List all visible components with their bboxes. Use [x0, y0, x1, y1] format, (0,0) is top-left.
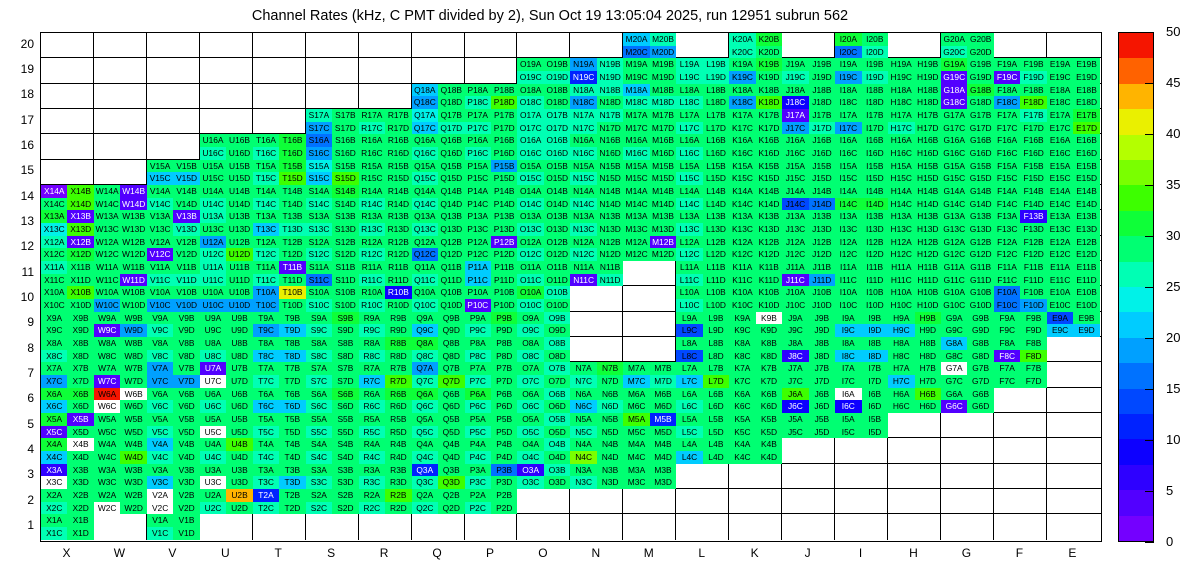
- channel-Q17C[interactable]: Q17C: [412, 122, 438, 135]
- channel-V10D[interactable]: V10D: [173, 299, 199, 312]
- heatmap-cell-W8[interactable]: W8AW8BW8CW8D: [94, 337, 147, 362]
- channel-X13A[interactable]: X13A: [41, 210, 67, 223]
- heatmap-cell-T20[interactable]: [253, 33, 306, 58]
- channel-G14A[interactable]: G14A: [941, 185, 967, 198]
- channel-X3A[interactable]: X3A: [41, 464, 67, 477]
- channel-W10B[interactable]: W10B: [120, 286, 146, 299]
- channel-J19B[interactable]: J19B: [809, 58, 835, 71]
- channel-P17B[interactable]: P17B: [491, 109, 517, 122]
- channel-J17C[interactable]: J17C: [782, 122, 808, 135]
- channel-U4A[interactable]: U4A: [200, 438, 226, 451]
- channel-O5D[interactable]: O5D: [544, 426, 570, 439]
- channel-P3C[interactable]: P3C: [465, 476, 491, 489]
- heatmap-cell-W15[interactable]: [94, 160, 147, 185]
- heatmap-cell-W9[interactable]: W9AW9BW9CW9D: [94, 312, 147, 337]
- heatmap-cell-M6[interactable]: M6AM6BM6CM6D: [623, 388, 676, 413]
- channel-Q18B[interactable]: Q18B: [438, 84, 464, 97]
- channel-G10B[interactable]: G10B: [967, 286, 993, 299]
- channel-F16D[interactable]: F16D: [1020, 147, 1046, 160]
- channel-J18C[interactable]: J18C: [782, 96, 808, 109]
- heatmap-cell-R15[interactable]: R15AR15BR15CR15D: [359, 160, 412, 185]
- heatmap-cell-O1[interactable]: [517, 514, 570, 539]
- heatmap-cell-G2[interactable]: [941, 489, 994, 514]
- channel-G12C[interactable]: G12C: [941, 248, 967, 261]
- channel-I9A[interactable]: I9A: [835, 312, 861, 325]
- channel-R5B[interactable]: R5B: [385, 413, 411, 426]
- channel-O19B[interactable]: O19B: [544, 58, 570, 71]
- channel-H12C[interactable]: H12C: [888, 248, 914, 261]
- channel-V14B[interactable]: V14B: [173, 185, 199, 198]
- channel-I14B[interactable]: I14B: [862, 185, 888, 198]
- channel-I14A[interactable]: I14A: [835, 185, 861, 198]
- channel-F7B[interactable]: F7B: [1020, 362, 1046, 375]
- channel-R15D[interactable]: R15D: [385, 172, 411, 185]
- channel-N11A[interactable]: N11A: [570, 261, 596, 274]
- heatmap-cell-E1[interactable]: [1047, 514, 1100, 539]
- channel-O10B[interactable]: O10B: [544, 286, 570, 299]
- channel-U15C[interactable]: U15C: [200, 172, 226, 185]
- channel-K8D[interactable]: K8D: [756, 350, 782, 363]
- channel-O16D[interactable]: O16D: [544, 147, 570, 160]
- heatmap-cell-T3[interactable]: T3AT3BT3CT3D: [253, 464, 306, 489]
- heatmap-cell-E13[interactable]: E13AE13BE13CE13D: [1047, 210, 1100, 235]
- channel-X2C[interactable]: X2C: [41, 502, 67, 515]
- channel-X5D[interactable]: X5D: [67, 426, 93, 439]
- channel-S9D[interactable]: S9D: [332, 324, 358, 337]
- channel-R5A[interactable]: R5A: [359, 413, 385, 426]
- heatmap-cell-N14[interactable]: N14AN14BN14CN14D: [570, 185, 623, 210]
- heatmap-cell-R16[interactable]: R16AR16BR16CR16D: [359, 134, 412, 159]
- channel-P3B[interactable]: P3B: [491, 464, 517, 477]
- channel-K5C[interactable]: K5C: [729, 426, 755, 439]
- channel-N19B[interactable]: N19B: [597, 58, 623, 71]
- heatmap-cell-K10[interactable]: K10AK10BK10CK10D: [729, 286, 782, 311]
- channel-Q14D[interactable]: Q14D: [438, 198, 464, 211]
- channel-J9C[interactable]: J9C: [782, 324, 808, 337]
- heatmap-cell-L19[interactable]: L19AL19BL19CL19D: [676, 58, 729, 83]
- channel-T10C[interactable]: T10C: [253, 299, 279, 312]
- channel-H17C[interactable]: H17C: [888, 122, 914, 135]
- channel-F10C[interactable]: F10C: [994, 299, 1020, 312]
- channel-H19D[interactable]: H19D: [915, 71, 941, 84]
- channel-X4A[interactable]: X4A: [41, 438, 67, 451]
- channel-Q2D[interactable]: Q2D: [438, 502, 464, 515]
- channel-Q8A[interactable]: Q8A: [412, 337, 438, 350]
- heatmap-cell-G4[interactable]: [941, 438, 994, 463]
- channel-T5C[interactable]: T5C: [253, 426, 279, 439]
- heatmap-cell-Q13[interactable]: Q13AQ13BQ13CQ13D: [412, 210, 465, 235]
- channel-L5C[interactable]: L5C: [676, 426, 702, 439]
- heatmap-cell-V13[interactable]: V13AV13BV13CV13D: [147, 210, 200, 235]
- channel-V8B[interactable]: V8B: [173, 337, 199, 350]
- channel-F12D[interactable]: F12D: [1020, 248, 1046, 261]
- heatmap-cell-V4[interactable]: V4AV4BV4CV4D: [147, 438, 200, 463]
- channel-T16D[interactable]: T16D: [279, 147, 305, 160]
- channel-U15A[interactable]: U15A: [200, 160, 226, 173]
- channel-E14D[interactable]: E14D: [1073, 198, 1099, 211]
- channel-I11B[interactable]: I11B: [862, 261, 888, 274]
- channel-Q8D[interactable]: Q8D: [438, 350, 464, 363]
- channel-U16C[interactable]: U16C: [200, 147, 226, 160]
- channel-N14B[interactable]: N14B: [597, 185, 623, 198]
- channel-P3D[interactable]: P3D: [491, 476, 517, 489]
- channel-Q16D[interactable]: Q16D: [438, 147, 464, 160]
- channel-X14A[interactable]: X14A: [41, 185, 67, 198]
- channel-X9D[interactable]: X9D: [67, 324, 93, 337]
- heatmap-cell-I4[interactable]: [835, 438, 888, 463]
- channel-H15A[interactable]: H15A: [888, 160, 914, 173]
- channel-V3A[interactable]: V3A: [147, 464, 173, 477]
- channel-L5D[interactable]: L5D: [703, 426, 729, 439]
- channel-L18D[interactable]: L18D: [703, 96, 729, 109]
- channel-X12B[interactable]: X12B: [67, 236, 93, 249]
- heatmap-cell-S11[interactable]: S11AS11BS11CS11D: [306, 261, 359, 286]
- heatmap-cell-S14[interactable]: S14AS14BS14CS14D: [306, 185, 359, 210]
- channel-K18A[interactable]: K18A: [729, 84, 755, 97]
- channel-U12C[interactable]: U12C: [200, 248, 226, 261]
- channel-M4B[interactable]: M4B: [650, 438, 676, 451]
- heatmap-cell-L5[interactable]: L5AL5BL5CL5D: [676, 413, 729, 438]
- channel-H16A[interactable]: H16A: [888, 134, 914, 147]
- channel-L14D[interactable]: L14D: [703, 198, 729, 211]
- channel-N16C[interactable]: N16C: [570, 147, 596, 160]
- channel-K16C[interactable]: K16C: [729, 147, 755, 160]
- channel-K19C[interactable]: K19C: [729, 71, 755, 84]
- channel-J8B[interactable]: J8B: [809, 337, 835, 350]
- channel-N7B[interactable]: N7B: [597, 362, 623, 375]
- channel-L16D[interactable]: L16D: [703, 147, 729, 160]
- heatmap-cell-Q17[interactable]: Q17AQ17BQ17CQ17D: [412, 109, 465, 134]
- heatmap-cell-R1[interactable]: [359, 514, 412, 539]
- channel-E11A[interactable]: E11A: [1047, 261, 1073, 274]
- channel-K20A[interactable]: K20A: [729, 33, 755, 46]
- channel-S3D[interactable]: S3D: [332, 476, 358, 489]
- channel-L5A[interactable]: L5A: [676, 413, 702, 426]
- channel-O12B[interactable]: O12B: [544, 236, 570, 249]
- channel-E13B[interactable]: E13B: [1073, 210, 1099, 223]
- channel-M4D[interactable]: M4D: [650, 451, 676, 464]
- channel-W11C[interactable]: W11C: [94, 274, 120, 287]
- channel-R11A[interactable]: R11A: [359, 261, 385, 274]
- channel-L9C[interactable]: L9C: [676, 324, 702, 337]
- channel-M6C[interactable]: M6C: [623, 400, 649, 413]
- channel-E16A[interactable]: E16A: [1047, 134, 1073, 147]
- channel-T13B[interactable]: T13B: [279, 210, 305, 223]
- heatmap-cell-H13[interactable]: H13AH13BH13CH13D: [888, 210, 941, 235]
- channel-T12A[interactable]: T12A: [253, 236, 279, 249]
- heatmap-cell-X14[interactable]: X14AX14BX14CX14D: [41, 185, 94, 210]
- channel-L6C[interactable]: L6C: [676, 400, 702, 413]
- channel-F15B[interactable]: F15B: [1020, 160, 1046, 173]
- heatmap-cell-L1[interactable]: [676, 514, 729, 539]
- channel-P18C[interactable]: P18C: [465, 96, 491, 109]
- channel-J9A[interactable]: J9A: [782, 312, 808, 325]
- channel-P6A[interactable]: P6A: [465, 388, 491, 401]
- channel-G16D[interactable]: G16D: [967, 147, 993, 160]
- channel-I18A[interactable]: I18A: [835, 84, 861, 97]
- channel-E12C[interactable]: E12C: [1047, 248, 1073, 261]
- channel-Q4B[interactable]: Q4B: [438, 438, 464, 451]
- channel-X8D[interactable]: X8D: [67, 350, 93, 363]
- channel-M16A[interactable]: M16A: [623, 134, 649, 147]
- heatmap-cell-P12[interactable]: P12AP12BP12CP12D: [465, 236, 518, 261]
- channel-T11A[interactable]: T11A: [253, 261, 279, 274]
- channel-N18C[interactable]: N18C: [570, 96, 596, 109]
- channel-W8C[interactable]: W8C: [94, 350, 120, 363]
- channel-E12A[interactable]: E12A: [1047, 236, 1073, 249]
- channel-U2D[interactable]: U2D: [226, 502, 252, 515]
- channel-F9B[interactable]: F9B: [1020, 312, 1046, 325]
- channel-X2B[interactable]: X2B: [67, 489, 93, 502]
- channel-Q10A[interactable]: Q10A: [412, 286, 438, 299]
- channel-T11B[interactable]: T11B: [279, 261, 305, 274]
- channel-R12B[interactable]: R12B: [385, 236, 411, 249]
- channel-I19C[interactable]: I19C: [835, 71, 861, 84]
- heatmap-cell-L11[interactable]: L11AL11BL11CL11D: [676, 261, 729, 286]
- channel-L17D[interactable]: L17D: [703, 122, 729, 135]
- channel-T8C[interactable]: T8C: [253, 350, 279, 363]
- channel-I6C[interactable]: I6C: [835, 400, 861, 413]
- heatmap-cell-V19[interactable]: [147, 58, 200, 83]
- heatmap-cell-Q14[interactable]: Q14AQ14BQ14CQ14D: [412, 185, 465, 210]
- channel-W4C[interactable]: W4C: [94, 451, 120, 464]
- channel-K15C[interactable]: K15C: [729, 172, 755, 185]
- channel-S13B[interactable]: S13B: [332, 210, 358, 223]
- channel-L11D[interactable]: L11D: [703, 274, 729, 287]
- heatmap-cell-N6[interactable]: N6AN6BN6CN6D: [570, 388, 623, 413]
- channel-S7B[interactable]: S7B: [332, 362, 358, 375]
- channel-J7C[interactable]: J7C: [782, 375, 808, 388]
- channel-T4A[interactable]: T4A: [253, 438, 279, 451]
- channel-N18D[interactable]: N18D: [597, 96, 623, 109]
- heatmap-cell-U10[interactable]: U10AU10BU10CU10D: [200, 286, 253, 311]
- channel-O3A[interactable]: O3A: [517, 464, 543, 477]
- channel-T12B[interactable]: T12B: [279, 236, 305, 249]
- channel-W4D[interactable]: W4D: [120, 451, 146, 464]
- channel-G20A[interactable]: G20A: [941, 33, 967, 46]
- channel-X9C[interactable]: X9C: [41, 324, 67, 337]
- heatmap-cell-N8[interactable]: [570, 337, 623, 362]
- channel-F18A[interactable]: F18A: [994, 84, 1020, 97]
- heatmap-cell-T7[interactable]: T7AT7BT7CT7D: [253, 362, 306, 387]
- channel-V11C[interactable]: V11C: [147, 274, 173, 287]
- channel-E18A[interactable]: E18A: [1047, 84, 1073, 97]
- channel-K11D[interactable]: K11D: [756, 274, 782, 287]
- channel-H9D[interactable]: H9D: [915, 324, 941, 337]
- channel-V1B[interactable]: V1B: [173, 514, 199, 527]
- channel-E15C[interactable]: E15C: [1047, 172, 1073, 185]
- channel-U4B[interactable]: U4B: [226, 438, 252, 451]
- channel-O17A[interactable]: O17A: [517, 109, 543, 122]
- heatmap-cell-H5[interactable]: [888, 413, 941, 438]
- channel-U3C[interactable]: U3C: [200, 476, 226, 489]
- channel-I17C[interactable]: I17C: [835, 122, 861, 135]
- channel-S17C[interactable]: S17C: [306, 122, 332, 135]
- heatmap-cell-T2[interactable]: T2AT2BT2CT2D: [253, 489, 306, 514]
- channel-G8C[interactable]: G8C: [941, 350, 967, 363]
- channel-K16B[interactable]: K16B: [756, 134, 782, 147]
- channel-P17C[interactable]: P17C: [465, 122, 491, 135]
- heatmap-cell-O3[interactable]: O3AO3BO3CO3D: [517, 464, 570, 489]
- heatmap-cell-G11[interactable]: G11AG11BG11CG11D: [941, 261, 994, 286]
- channel-R13B[interactable]: R13B: [385, 210, 411, 223]
- channel-N12D[interactable]: N12D: [597, 248, 623, 261]
- channel-W13A[interactable]: W13A: [94, 210, 120, 223]
- channel-W7D[interactable]: W7D: [120, 375, 146, 388]
- channel-N13C[interactable]: N13C: [570, 223, 596, 236]
- channel-I17B[interactable]: I17B: [862, 109, 888, 122]
- channel-V11B[interactable]: V11B: [173, 261, 199, 274]
- channel-O18C[interactable]: O18C: [517, 96, 543, 109]
- channel-T2D[interactable]: T2D: [279, 502, 305, 515]
- channel-F13C[interactable]: F13C: [994, 223, 1020, 236]
- channel-L18C[interactable]: L18C: [676, 96, 702, 109]
- heatmap-cell-X13[interactable]: X13AX13BX13CX13D: [41, 210, 94, 235]
- channel-R17D[interactable]: R17D: [385, 122, 411, 135]
- channel-R3D[interactable]: R3D: [385, 476, 411, 489]
- channel-I16A[interactable]: I16A: [835, 134, 861, 147]
- channel-V9B[interactable]: V9B: [173, 312, 199, 325]
- channel-Q17A[interactable]: Q17A: [412, 109, 438, 122]
- channel-V13D[interactable]: V13D: [173, 223, 199, 236]
- channel-O8C[interactable]: O8C: [517, 350, 543, 363]
- channel-T10B[interactable]: T10B: [279, 286, 305, 299]
- heatmap-cell-E15[interactable]: E15AE15BE15CE15D: [1047, 160, 1100, 185]
- heatmap-cell-K17[interactable]: K17AK17BK17CK17D: [729, 109, 782, 134]
- channel-N4A[interactable]: N4A: [570, 438, 596, 451]
- channel-F9D[interactable]: F9D: [1020, 324, 1046, 337]
- channel-G7B[interactable]: G7B: [967, 362, 993, 375]
- channel-R9A[interactable]: R9A: [359, 312, 385, 325]
- channel-G19D[interactable]: G19D: [967, 71, 993, 84]
- channel-O12A[interactable]: O12A: [517, 236, 543, 249]
- channel-R14A[interactable]: R14A: [359, 185, 385, 198]
- channel-N5A[interactable]: N5A: [570, 413, 596, 426]
- channel-M13A[interactable]: M13A: [623, 210, 649, 223]
- channel-V10C[interactable]: V10C: [147, 299, 173, 312]
- channel-V13C[interactable]: V13C: [147, 223, 173, 236]
- channel-K13D[interactable]: K13D: [756, 223, 782, 236]
- heatmap-cell-E16[interactable]: E16AE16BE16CE16D: [1047, 134, 1100, 159]
- channel-H11C[interactable]: H11C: [888, 274, 914, 287]
- channel-N3D[interactable]: N3D: [597, 476, 623, 489]
- channel-M17A[interactable]: M17A: [623, 109, 649, 122]
- heatmap-cell-S10[interactable]: S10AS10BS10CS10D: [306, 286, 359, 311]
- channel-U5A[interactable]: U5A: [200, 413, 226, 426]
- heatmap-cell-L9[interactable]: L9AL9BL9CL9D: [676, 312, 729, 337]
- channel-T2C[interactable]: T2C: [253, 502, 279, 515]
- channel-P13D[interactable]: P13D: [491, 223, 517, 236]
- channel-X7C[interactable]: X7C: [41, 375, 67, 388]
- channel-W9C[interactable]: W9C: [94, 324, 120, 337]
- heatmap-cell-V16[interactable]: [147, 134, 200, 159]
- channel-X1D[interactable]: X1D: [67, 527, 93, 540]
- channel-P14C[interactable]: P14C: [465, 198, 491, 211]
- channel-T9D[interactable]: T9D: [279, 324, 305, 337]
- heatmap-cell-W2[interactable]: W2AW2BW2CW2D: [94, 489, 147, 514]
- channel-S14A[interactable]: S14A: [306, 185, 332, 198]
- heatmap-cell-K2[interactable]: [729, 489, 782, 514]
- channel-Q3D[interactable]: Q3D: [438, 476, 464, 489]
- heatmap-cell-V5[interactable]: V5AV5BV5CV5D: [147, 413, 200, 438]
- channel-S6D[interactable]: S6D: [332, 400, 358, 413]
- channel-H16B[interactable]: H16B: [915, 134, 941, 147]
- channel-J15C[interactable]: J15C: [782, 172, 808, 185]
- heatmap-cell-M2[interactable]: [623, 489, 676, 514]
- heatmap-cell-S15[interactable]: S15AS15BS15CS15D: [306, 160, 359, 185]
- channel-V15D[interactable]: V15D: [173, 172, 199, 185]
- heatmap-cell-Q15[interactable]: Q15AQ15BQ15CQ15D: [412, 160, 465, 185]
- heatmap-cell-F6[interactable]: [994, 388, 1047, 413]
- channel-Q7C[interactable]: Q7C: [412, 375, 438, 388]
- channel-K14D[interactable]: K14D: [756, 198, 782, 211]
- channel-T3C[interactable]: T3C: [253, 476, 279, 489]
- heatmap-cell-Q7[interactable]: Q7AQ7BQ7CQ7D: [412, 362, 465, 387]
- channel-K4C[interactable]: K4C: [729, 451, 755, 464]
- heatmap-cell-T18[interactable]: [253, 84, 306, 109]
- channel-G12D[interactable]: G12D: [967, 248, 993, 261]
- channel-S16C[interactable]: S16C: [306, 147, 332, 160]
- channel-V4C[interactable]: V4C: [147, 451, 173, 464]
- channel-T15B[interactable]: T15B: [279, 160, 305, 173]
- channel-J7D[interactable]: J7D: [809, 375, 835, 388]
- channel-V5A[interactable]: V5A: [147, 413, 173, 426]
- heatmap-cell-E2[interactable]: [1047, 489, 1100, 514]
- channel-W7A[interactable]: W7A: [94, 362, 120, 375]
- heatmap-cell-V12[interactable]: V12AV12BV12CV12D: [147, 236, 200, 261]
- heatmap-cell-M16[interactable]: M16AM16BM16CM16D: [623, 134, 676, 159]
- channel-L8B[interactable]: L8B: [703, 337, 729, 350]
- channel-T10D[interactable]: T10D: [279, 299, 305, 312]
- channel-N5D[interactable]: N5D: [597, 426, 623, 439]
- channel-V1C[interactable]: V1C: [147, 527, 173, 540]
- heatmap-cell-X8[interactable]: X8AX8BX8CX8D: [41, 337, 94, 362]
- channel-V8D[interactable]: V8D: [173, 350, 199, 363]
- channel-W9B[interactable]: W9B: [120, 312, 146, 325]
- channel-F15D[interactable]: F15D: [1020, 172, 1046, 185]
- heatmap-cell-X15[interactable]: [41, 160, 94, 185]
- channel-M3D[interactable]: M3D: [650, 476, 676, 489]
- channel-J6A[interactable]: J6A: [782, 388, 808, 401]
- channel-L14C[interactable]: L14C: [676, 198, 702, 211]
- heatmap-cell-W5[interactable]: W5AW5BW5CW5D: [94, 413, 147, 438]
- heatmap-cell-U1[interactable]: [200, 514, 253, 539]
- channel-M7B[interactable]: M7B: [650, 362, 676, 375]
- heatmap-cell-P13[interactable]: P13AP13BP13CP13D: [465, 210, 518, 235]
- heatmap-cell-N10[interactable]: [570, 286, 623, 311]
- channel-S14B[interactable]: S14B: [332, 185, 358, 198]
- channel-J7A[interactable]: J7A: [782, 362, 808, 375]
- heatmap-cell-K12[interactable]: K12AK12BK12CK12D: [729, 236, 782, 261]
- channel-K17A[interactable]: K17A: [729, 109, 755, 122]
- heatmap-cell-S7[interactable]: S7AS7BS7CS7D: [306, 362, 359, 387]
- channel-X6C[interactable]: X6C: [41, 400, 67, 413]
- channel-N15C[interactable]: N15C: [570, 172, 596, 185]
- channel-G16A[interactable]: G16A: [941, 134, 967, 147]
- channel-S5B[interactable]: S5B: [332, 413, 358, 426]
- channel-P16A[interactable]: P16A: [465, 134, 491, 147]
- channel-H14C[interactable]: H14C: [888, 198, 914, 211]
- channel-U10B[interactable]: U10B: [226, 286, 252, 299]
- channel-O16B[interactable]: O16B: [544, 134, 570, 147]
- channel-N13D[interactable]: N13D: [597, 223, 623, 236]
- channel-K7C[interactable]: K7C: [729, 375, 755, 388]
- heatmap-cell-F18[interactable]: F18AF18BF18CF18D: [994, 84, 1047, 109]
- channel-W12C[interactable]: W12C: [94, 248, 120, 261]
- channel-Q12B[interactable]: Q12B: [438, 236, 464, 249]
- channel-R12D[interactable]: R12D: [385, 248, 411, 261]
- channel-U2C[interactable]: U2C: [200, 502, 226, 515]
